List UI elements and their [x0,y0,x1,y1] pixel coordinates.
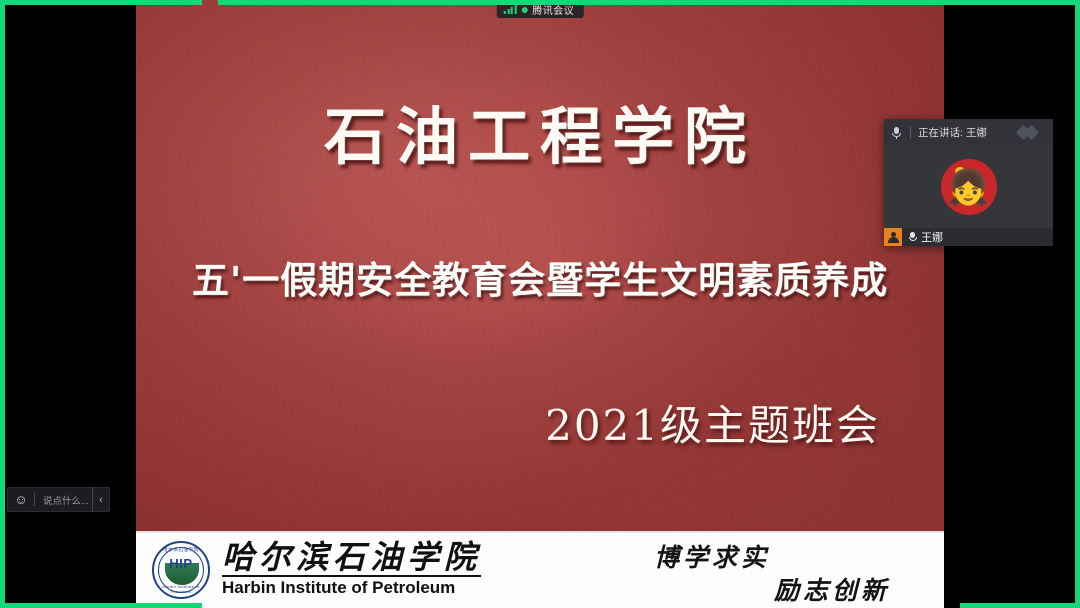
speaking-label: 正在讲话: 王娜 [918,125,987,140]
slide-subtitle: 五'一假期安全教育会暨学生文明素质养成 [136,250,944,304]
slide-class-line: 2021级主题班会 [545,392,880,453]
frame-edge-right [1075,0,1080,608]
frame-edge-left [0,0,5,608]
chat-input[interactable]: 说点什么... [35,493,92,507]
screen-root: 石油工程学院 五'一假期安全教育会暨学生文明素质养成 2021级主题班会 哈尔滨… [0,0,1080,608]
chat-input-bar[interactable]: ☺ 说点什么... ‹ [7,487,110,512]
shared-slide: 石油工程学院 五'一假期安全教育会暨学生文明素质养成 2021级主题班会 哈尔滨… [136,0,944,608]
school-logo: 哈尔滨石油学院 HIP Harbin Institute of Petroleu… [152,541,481,599]
microphone-icon [890,126,903,139]
collapse-chevron-icon[interactable] [1018,125,1048,139]
avatar-figure: 👧 [947,171,989,205]
participant-nametag: 王娜 [884,228,948,246]
signal-bars-icon [504,5,517,14]
tencent-meeting-status-pill[interactable]: 腾讯会议 [497,1,584,18]
avatar: 👧 [941,159,997,215]
school-name-cn: 哈尔滨石油学院 [222,541,481,575]
green-status-dot [521,7,527,13]
header-divider [910,126,911,139]
slide-title: 石油工程学院 [136,86,944,176]
video-stage[interactable]: 👧 [884,145,1053,228]
seal-arc-top: 哈尔滨石油学院 [154,547,208,553]
participant-name: 王娜 [921,229,948,245]
motto-line-2: 励志创新 [774,571,890,607]
participant-microphone-icon [907,231,918,243]
school-motto: 博学求实 励志创新 [614,531,944,608]
emoji-smiley-icon[interactable]: ☺ [8,487,34,512]
chevron-left-icon[interactable]: ‹ [92,487,109,512]
motto-line-1: 博学求实 [654,538,770,574]
video-window-header[interactable]: 正在讲话: 王娜 [884,119,1053,145]
seal-arc-bottom: Harbin Institute of Petroleum [154,584,208,594]
school-name-en: Harbin Institute of Petroleum [222,578,481,598]
floating-video-window[interactable]: 正在讲话: 王娜 👧 王娜 [884,119,1053,246]
video-window-footer: 王娜 [884,228,1053,246]
person-avatar-icon [884,228,902,246]
slide-content: 石油工程学院 五'一假期安全教育会暨学生文明素质养成 2021级主题班会 [136,0,944,608]
slide-footer: 哈尔滨石油学院 HIP Harbin Institute of Petroleu… [136,531,944,608]
school-name-block: 哈尔滨石油学院 Harbin Institute of Petroleum [222,541,481,599]
seal-initials: HIP [154,556,208,571]
tencent-meeting-label: 腾讯会议 [532,2,574,17]
hip-seal-icon: 哈尔滨石油学院 HIP Harbin Institute of Petroleu… [152,541,210,599]
